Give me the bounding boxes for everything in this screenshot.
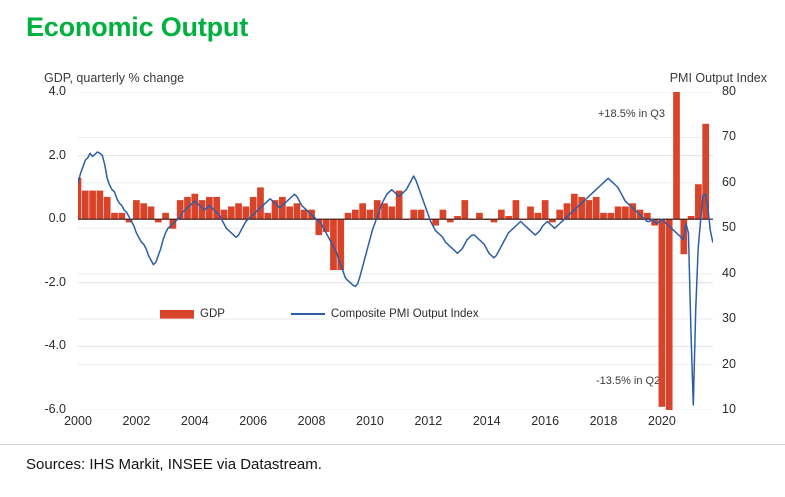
bar xyxy=(228,206,235,219)
bar xyxy=(286,206,293,219)
bar xyxy=(600,213,607,219)
x-axis-tick-label: 2010 xyxy=(356,414,384,428)
bar xyxy=(418,210,425,220)
bar xyxy=(97,191,104,220)
bar xyxy=(659,219,666,407)
bar xyxy=(440,210,447,220)
bar xyxy=(593,197,600,219)
bar xyxy=(104,197,111,219)
bar xyxy=(367,210,374,220)
y-axis-tick-label: -6.0 xyxy=(44,402,66,416)
bar xyxy=(118,213,125,219)
bar xyxy=(542,200,549,219)
bar xyxy=(556,210,563,220)
x-axis-tick-label: 2018 xyxy=(590,414,618,428)
bar xyxy=(345,213,352,219)
y-axis-tick-label: 4.0 xyxy=(49,84,66,98)
bar xyxy=(89,191,96,220)
bar xyxy=(571,194,578,219)
y2-axis-tick-label: 40 xyxy=(722,266,736,280)
sources-note: Sources: IHS Markit, INSEE via Datastrea… xyxy=(26,456,322,473)
bar xyxy=(359,203,366,219)
bar xyxy=(673,92,680,219)
bar xyxy=(388,206,395,219)
x-axis-tick-label: 2016 xyxy=(531,414,559,428)
bar xyxy=(410,210,417,220)
bar xyxy=(337,219,344,270)
bar xyxy=(352,210,359,220)
left-axis-title: GDP, quarterly % change xyxy=(44,71,184,85)
y-axis-tick-label: -4.0 xyxy=(44,338,66,352)
y2-axis-tick-label: 10 xyxy=(722,402,736,416)
bar xyxy=(243,206,250,219)
bar xyxy=(381,203,388,219)
x-axis-tick-label: 2002 xyxy=(122,414,150,428)
bar xyxy=(527,206,534,219)
bar xyxy=(162,213,169,219)
y-axis-tick-label: 2.0 xyxy=(49,148,66,162)
bar xyxy=(622,206,629,219)
x-axis-tick-label: 2000 xyxy=(64,414,92,428)
bar xyxy=(140,203,147,219)
y2-axis-tick-label: 50 xyxy=(722,220,736,234)
right-axis-title: PMI Output Index xyxy=(670,71,767,85)
footer-divider xyxy=(0,444,785,445)
bar xyxy=(586,200,593,219)
x-axis-tick-label: 2012 xyxy=(414,414,442,428)
x-axis-tick-label: 2008 xyxy=(298,414,326,428)
y-axis-tick-label: -2.0 xyxy=(44,275,66,289)
x-axis-tick-label: 2006 xyxy=(239,414,267,428)
page-title: Economic Output xyxy=(26,12,248,43)
bar xyxy=(498,210,505,220)
bar xyxy=(615,206,622,219)
bar xyxy=(82,191,89,220)
y-axis-tick-label: 0.0 xyxy=(49,211,66,225)
bar xyxy=(666,219,673,410)
bar xyxy=(330,219,337,270)
bar xyxy=(78,178,81,219)
bar xyxy=(264,213,271,219)
y2-axis-tick-label: 30 xyxy=(722,311,736,325)
y2-axis-tick-label: 70 xyxy=(722,129,736,143)
bar xyxy=(294,203,301,219)
pmi-line-series xyxy=(78,152,713,405)
bar xyxy=(148,206,155,219)
bar xyxy=(513,200,520,219)
chart-page: Economic Output GDP, quarterly % change … xyxy=(0,0,785,497)
bar xyxy=(221,210,228,220)
bar xyxy=(644,213,651,219)
bar xyxy=(607,213,614,219)
bar xyxy=(235,203,242,219)
bar xyxy=(111,213,118,219)
y2-axis-tick-label: 80 xyxy=(722,84,736,98)
bar xyxy=(432,219,439,225)
gdp-bar-series xyxy=(78,92,709,410)
y2-axis-tick-label: 60 xyxy=(722,175,736,189)
x-axis-tick-label: 2014 xyxy=(473,414,501,428)
bar xyxy=(191,194,198,219)
bar xyxy=(257,187,264,219)
chart-svg xyxy=(78,92,713,410)
chart-plot-area xyxy=(78,92,713,410)
x-axis-tick-label: 2004 xyxy=(181,414,209,428)
bar xyxy=(476,213,483,219)
x-axis-tick-label: 2020 xyxy=(648,414,676,428)
bar xyxy=(534,213,541,219)
y2-axis-tick-label: 20 xyxy=(722,357,736,371)
bar xyxy=(461,200,468,219)
bar xyxy=(133,200,140,219)
